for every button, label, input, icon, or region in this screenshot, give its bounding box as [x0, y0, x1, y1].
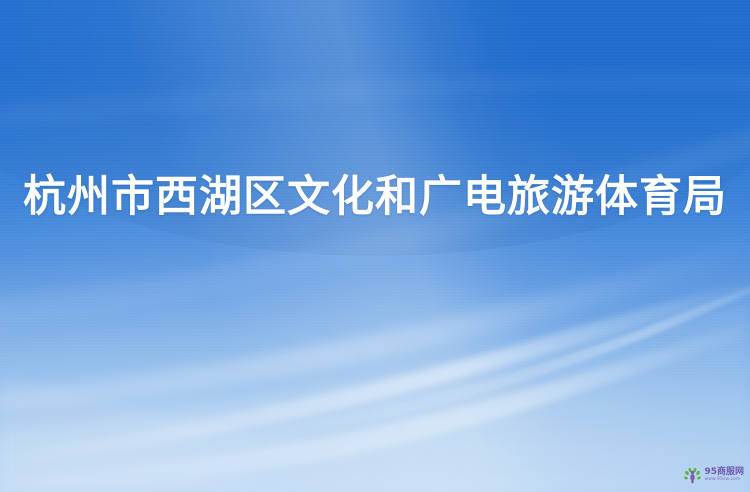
background-wave-ribbons	[0, 0, 750, 492]
page-title: 杭州市西湖区文化和广电旅游体育局	[23, 173, 727, 221]
banner-title-container: 杭州市西湖区文化和广电旅游体育局	[0, 170, 750, 224]
watermark-site-url: www.95sw.com	[704, 478, 744, 482]
watermark: 95商服网 www.95sw.com	[684, 467, 744, 484]
site-banner: 杭州市西湖区文化和广电旅游体育局 95商服网 www.95sw.com	[0, 0, 750, 492]
watermark-site-name: 95商服网	[704, 468, 744, 477]
green-sprout-figure-icon	[684, 467, 701, 484]
watermark-text: 95商服网 www.95sw.com	[704, 468, 744, 482]
